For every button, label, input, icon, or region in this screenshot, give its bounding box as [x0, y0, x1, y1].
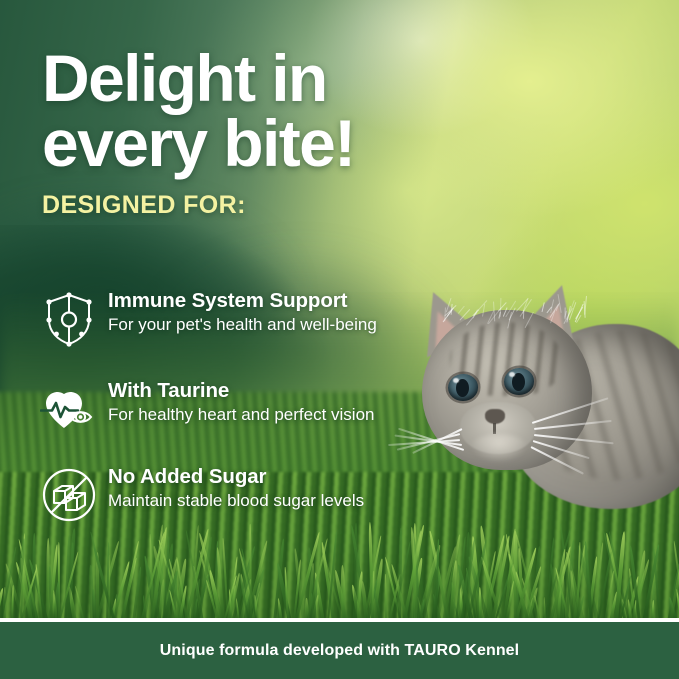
kitten-mouth — [493, 423, 496, 434]
feature-title: No Added Sugar — [108, 466, 364, 489]
feature-text: No Added Sugar Maintain stable blood sug… — [100, 462, 364, 510]
feature-item-taurine: With Taurine For healthy heart and perfe… — [38, 376, 418, 440]
kitten-photo-subject — [392, 252, 679, 582]
feature-item-no-added-sugar: No Added Sugar Maintain stable blood sug… — [38, 462, 418, 526]
kitten-chin — [470, 434, 528, 462]
feature-description: For your pet's health and well-being — [108, 315, 377, 335]
feature-description: Maintain stable blood sugar levels — [108, 491, 364, 511]
feature-text: Immune System Support For your pet's hea… — [100, 286, 377, 334]
feature-description: For healthy heart and perfect vision — [108, 405, 374, 425]
no-sugar-icon — [38, 464, 100, 526]
headline-line-2: every bite! — [42, 111, 472, 176]
headline-line-1: Delight in — [42, 41, 327, 115]
feature-title: With Taurine — [108, 380, 374, 403]
kitten-nose — [485, 409, 505, 424]
designed-for-subheading: DESIGNED FOR: — [42, 191, 246, 220]
kitten-eye-glint-left — [453, 378, 459, 383]
footer-text: Unique formula developed with TAURO Kenn… — [160, 642, 519, 660]
heart-eye-icon — [38, 378, 100, 440]
feature-item-immune-support: Immune System Support For your pet's hea… — [38, 286, 418, 350]
shield-icon — [38, 288, 100, 350]
headline: Delight in every bite! — [42, 46, 472, 175]
feature-list: Immune System Support For your pet's hea… — [38, 286, 418, 552]
kitten-eye-glint-right — [509, 372, 515, 377]
feature-title: Immune System Support — [108, 290, 377, 313]
footer-banner: Unique formula developed with TAURO Kenn… — [0, 622, 679, 679]
feature-text: With Taurine For healthy heart and perfe… — [100, 376, 374, 424]
product-feature-poster: Delight in every bite! DESIGNED FOR: — [0, 0, 679, 679]
